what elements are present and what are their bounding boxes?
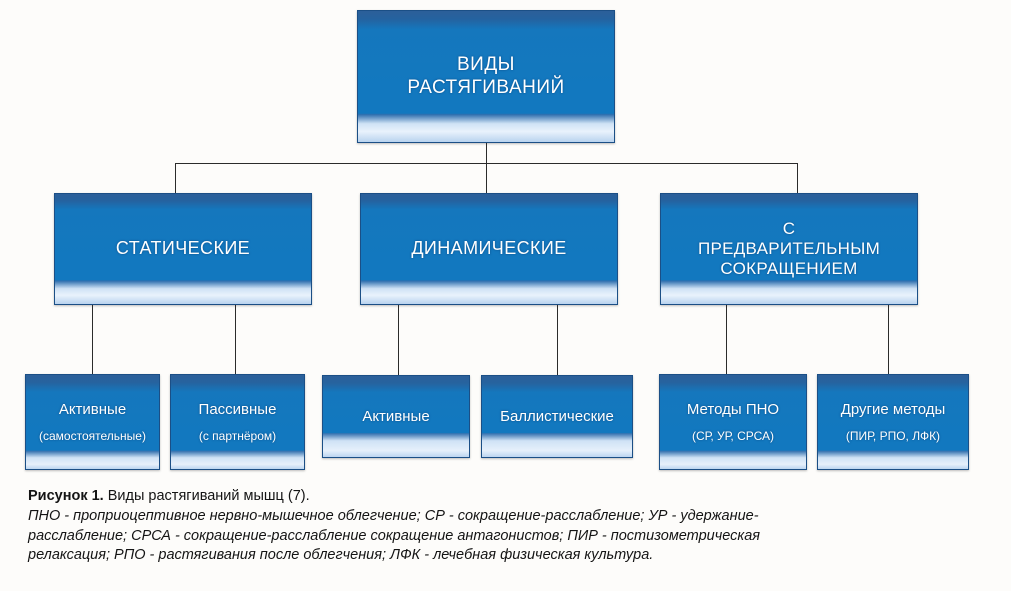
node-predvaritelnym-line3: СОКРАЩЕНИЕМ <box>720 259 857 279</box>
node-aktivnye-samostoyatelnye: Активные (самостоятельные) <box>25 374 160 470</box>
node-drugie-metody-title: Другие методы <box>841 401 946 419</box>
node-root-line2: РАСТЯГИВАНИЙ <box>407 77 564 99</box>
node-passivnye-title: Пассивные <box>199 401 277 419</box>
node-drugie-metody-subtitle: (ПИР, РПО, ЛФК) <box>846 429 940 443</box>
node-root-line1: ВИДЫ <box>457 54 515 76</box>
caption-title-line: Рисунок 1. Виды растягиваний мышц (7). <box>28 487 988 506</box>
node-passivnye-s-partnerom: Пассивные (с партнёром) <box>170 374 305 470</box>
node-aktivnye-1-title: Активные <box>59 401 126 419</box>
connector-drop-drugie-metody <box>888 305 889 374</box>
connector-drop-metody-pno <box>726 305 727 374</box>
node-staticheskie: СТАТИЧЕСКИЕ <box>54 193 312 305</box>
connector-drop-aktivnye-1 <box>92 305 93 374</box>
node-metody-pno-subtitle: (СР, УР, СРСА) <box>692 429 774 443</box>
connector-drop-dynamic <box>486 163 487 193</box>
node-dinamicheskie: ДИНАМИЧЕСКИЕ <box>360 193 618 305</box>
node-passivnye-subtitle: (с партнёром) <box>199 429 276 443</box>
connector-drop-ballisticheskie <box>557 305 558 375</box>
node-metody-pno-title: Методы ПНО <box>687 401 779 419</box>
caption-body-line-2: расслабление; СРСА - сокращение-расслабл… <box>28 527 988 547</box>
caption-label: Рисунок 1. <box>28 488 104 504</box>
figure-caption: Рисунок 1. Виды растягиваний мышц (7). П… <box>28 487 988 566</box>
node-metody-pno: Методы ПНО (СР, УР, СРСА) <box>659 374 807 470</box>
node-aktivnye-1-subtitle: (самостоятельные) <box>39 429 146 443</box>
node-ballisticheskie-title: Баллистические <box>500 408 614 426</box>
caption-body-line-3: релаксация; РПО - растягивания после обл… <box>28 546 988 566</box>
org-chart-diagram: ВИДЫ РАСТЯГИВАНИЙ СТАТИЧЕСКИЕ ДИНАМИЧЕСК… <box>0 0 1011 591</box>
node-aktivnye-dinamicheskie: Активные <box>322 375 470 458</box>
connector-drop-static <box>175 163 176 193</box>
connector-drop-aktivnye-2 <box>398 305 399 375</box>
node-root-vidy-rastyagivaniy: ВИДЫ РАСТЯГИВАНИЙ <box>357 10 615 143</box>
connector-drop-passivnye <box>235 305 236 374</box>
caption-body: ПНО - проприоцептивное нервно-мышечное о… <box>28 507 988 566</box>
node-s-predvaritelnym-sokrashcheniem: С ПРЕДВАРИТЕЛЬНЫМ СОКРАЩЕНИЕМ <box>660 193 918 305</box>
node-predvaritelnym-line1: С <box>783 219 796 239</box>
node-aktivnye-2-title: Активные <box>362 408 429 426</box>
connector-drop-preliminary <box>797 163 798 193</box>
node-ballisticheskie: Баллистические <box>481 375 633 458</box>
node-predvaritelnym-line2: ПРЕДВАРИТЕЛЬНЫМ <box>698 239 880 259</box>
caption-title-rest: Виды растягиваний мышц (7). <box>104 488 310 504</box>
caption-body-line-1: ПНО - проприоцептивное нервно-мышечное о… <box>28 507 988 527</box>
node-staticheskie-label: СТАТИЧЕСКИЕ <box>116 238 250 259</box>
node-dinamicheskie-label: ДИНАМИЧЕСКИЕ <box>411 238 566 259</box>
node-drugie-metody: Другие методы (ПИР, РПО, ЛФК) <box>817 374 969 470</box>
